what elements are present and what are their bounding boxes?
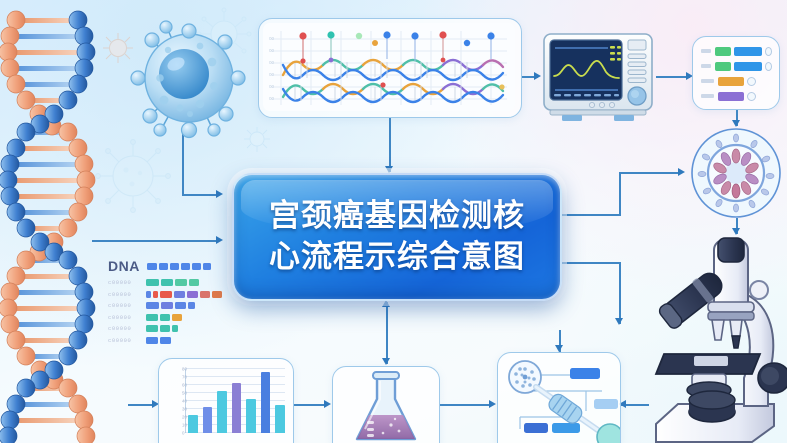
bars-group <box>188 369 285 433</box>
value-bar <box>734 47 762 56</box>
dna-segment <box>172 314 182 321</box>
connector-line <box>128 404 154 406</box>
arrow-head-icon <box>678 168 685 176</box>
dna-segment <box>189 279 199 286</box>
dna-row: c00000 <box>108 336 228 345</box>
monitor-waveform-icon[interactable] <box>540 28 654 122</box>
flask-card[interactable] <box>332 366 440 443</box>
row-label-icon <box>701 79 714 83</box>
dna-segment <box>153 291 158 298</box>
dna-row: c00000 <box>108 313 228 322</box>
petri-dish-icon[interactable] <box>686 126 786 220</box>
device-swab-card[interactable] <box>497 352 621 443</box>
row-label-icon <box>701 64 711 68</box>
bar <box>188 415 198 433</box>
connector-line <box>294 404 326 406</box>
bar <box>232 383 242 433</box>
dna-helix-icon <box>0 0 104 443</box>
arrow-head-icon <box>216 190 223 198</box>
bar <box>275 405 285 433</box>
dna-segment <box>175 302 186 309</box>
diagram-canvas: 000000 000000 <box>0 0 787 443</box>
dna-segment <box>160 337 171 344</box>
arrow-head-icon <box>555 345 563 352</box>
row-indicator-icon <box>765 47 772 56</box>
arrow-head-icon <box>324 400 331 408</box>
svg-text:00: 00 <box>269 96 275 101</box>
dna-panel-label: DNA <box>108 258 140 274</box>
arrow-head-icon <box>615 318 623 325</box>
row-indicator-icon <box>747 77 756 86</box>
dna-row: c00000 <box>108 301 228 310</box>
main-title-card[interactable]: 宫颈癌基因检测核 心流程示综合意图 <box>232 173 562 301</box>
dna-segment <box>212 291 222 298</box>
dna-sequence-chart-card[interactable]: 000000 000000 <box>258 18 522 118</box>
row-indicator-icon <box>765 62 772 71</box>
results-list-card[interactable] <box>692 36 780 110</box>
dna-segment <box>175 279 187 286</box>
connector-line <box>562 262 620 264</box>
bar-chart-card[interactable]: 01020304050607080 <box>158 358 294 443</box>
page-title: 宫颈癌基因检测核 心流程示综合意图 <box>266 196 528 278</box>
svg-text:00: 00 <box>269 48 275 53</box>
dna-rows: c00000c00000c00000c00000c00000c00000 <box>108 278 228 345</box>
bar <box>203 407 213 433</box>
connector-line <box>440 404 492 406</box>
svg-text:00: 00 <box>269 72 275 77</box>
dna-segment <box>187 291 198 298</box>
dna-list-panel: DNA c00000c00000c00000c00000c00000c00000 <box>108 258 228 350</box>
dna-row-code: c00000 <box>108 325 142 332</box>
value-bar <box>718 92 744 101</box>
flask-icon <box>333 367 439 443</box>
dna-row: c00000 <box>108 324 228 333</box>
dna-row-code: c00000 <box>108 279 142 286</box>
list-item[interactable] <box>701 91 772 101</box>
dna-segment <box>188 302 195 309</box>
arrow-head-icon <box>385 166 393 173</box>
value-bar <box>718 77 744 86</box>
dna-row-code: c00000 <box>108 337 142 344</box>
arrow-head-icon <box>489 400 496 408</box>
connector-line <box>619 172 681 174</box>
device-swab-icon <box>498 353 620 443</box>
arrow-head-icon <box>216 236 223 244</box>
value-bar <box>734 62 762 71</box>
list-item[interactable] <box>701 76 772 86</box>
dna-sequence-chart-icon: 000000 000000 <box>259 19 519 115</box>
bar-chart-plot: 01020304050607080 <box>185 369 285 433</box>
page-title-line-1: 宫颈癌基因检测核 <box>266 196 528 237</box>
dna-segment <box>161 279 173 286</box>
connector-line <box>562 214 620 216</box>
arrow-head-icon <box>382 358 390 365</box>
dna-row: c00000 <box>108 290 228 299</box>
svg-text:00: 00 <box>269 84 275 89</box>
row-label-icon <box>701 94 714 98</box>
row-label-icon <box>701 49 711 53</box>
bar <box>261 372 271 433</box>
dna-row: c00000 <box>108 278 228 287</box>
connector-line <box>182 194 218 196</box>
dna-header-bars <box>147 263 213 270</box>
bar <box>246 399 256 433</box>
list-item[interactable] <box>701 61 772 71</box>
dna-segment <box>146 302 159 309</box>
arrow-head-icon <box>382 300 390 307</box>
page-title-line-2: 心流程示综合意图 <box>266 237 528 278</box>
dna-segment <box>146 314 158 321</box>
svg-text:00: 00 <box>269 36 275 41</box>
connector-line <box>656 76 690 78</box>
dna-segment <box>161 302 173 309</box>
results-list <box>693 37 779 101</box>
status-bar <box>715 62 731 71</box>
dna-row-code: c00000 <box>108 314 142 321</box>
dna-segment <box>200 291 210 298</box>
dna-segment <box>160 291 172 298</box>
dna-segment <box>172 325 178 332</box>
dna-segment <box>146 325 158 332</box>
status-bar <box>715 47 731 56</box>
connector-line <box>389 118 391 172</box>
list-item[interactable] <box>701 46 772 56</box>
dna-segment <box>160 325 170 332</box>
dna-segment <box>146 279 159 286</box>
virus-icon <box>128 16 250 144</box>
bar <box>217 391 227 433</box>
connector-line <box>619 172 621 216</box>
svg-text:00: 00 <box>269 60 275 65</box>
dna-header-row: DNA <box>108 258 228 274</box>
dna-segment <box>174 291 185 298</box>
dna-segment <box>146 337 158 344</box>
row-indicator-icon <box>747 92 756 101</box>
microscope-icon[interactable] <box>648 228 787 443</box>
dna-row-code: c00000 <box>108 302 142 309</box>
dna-row-code: c00000 <box>108 291 142 298</box>
connector-line <box>619 262 621 324</box>
connector-line <box>386 302 388 364</box>
connector-line <box>92 240 217 242</box>
dna-segment <box>160 314 170 321</box>
dna-segment <box>146 291 151 298</box>
